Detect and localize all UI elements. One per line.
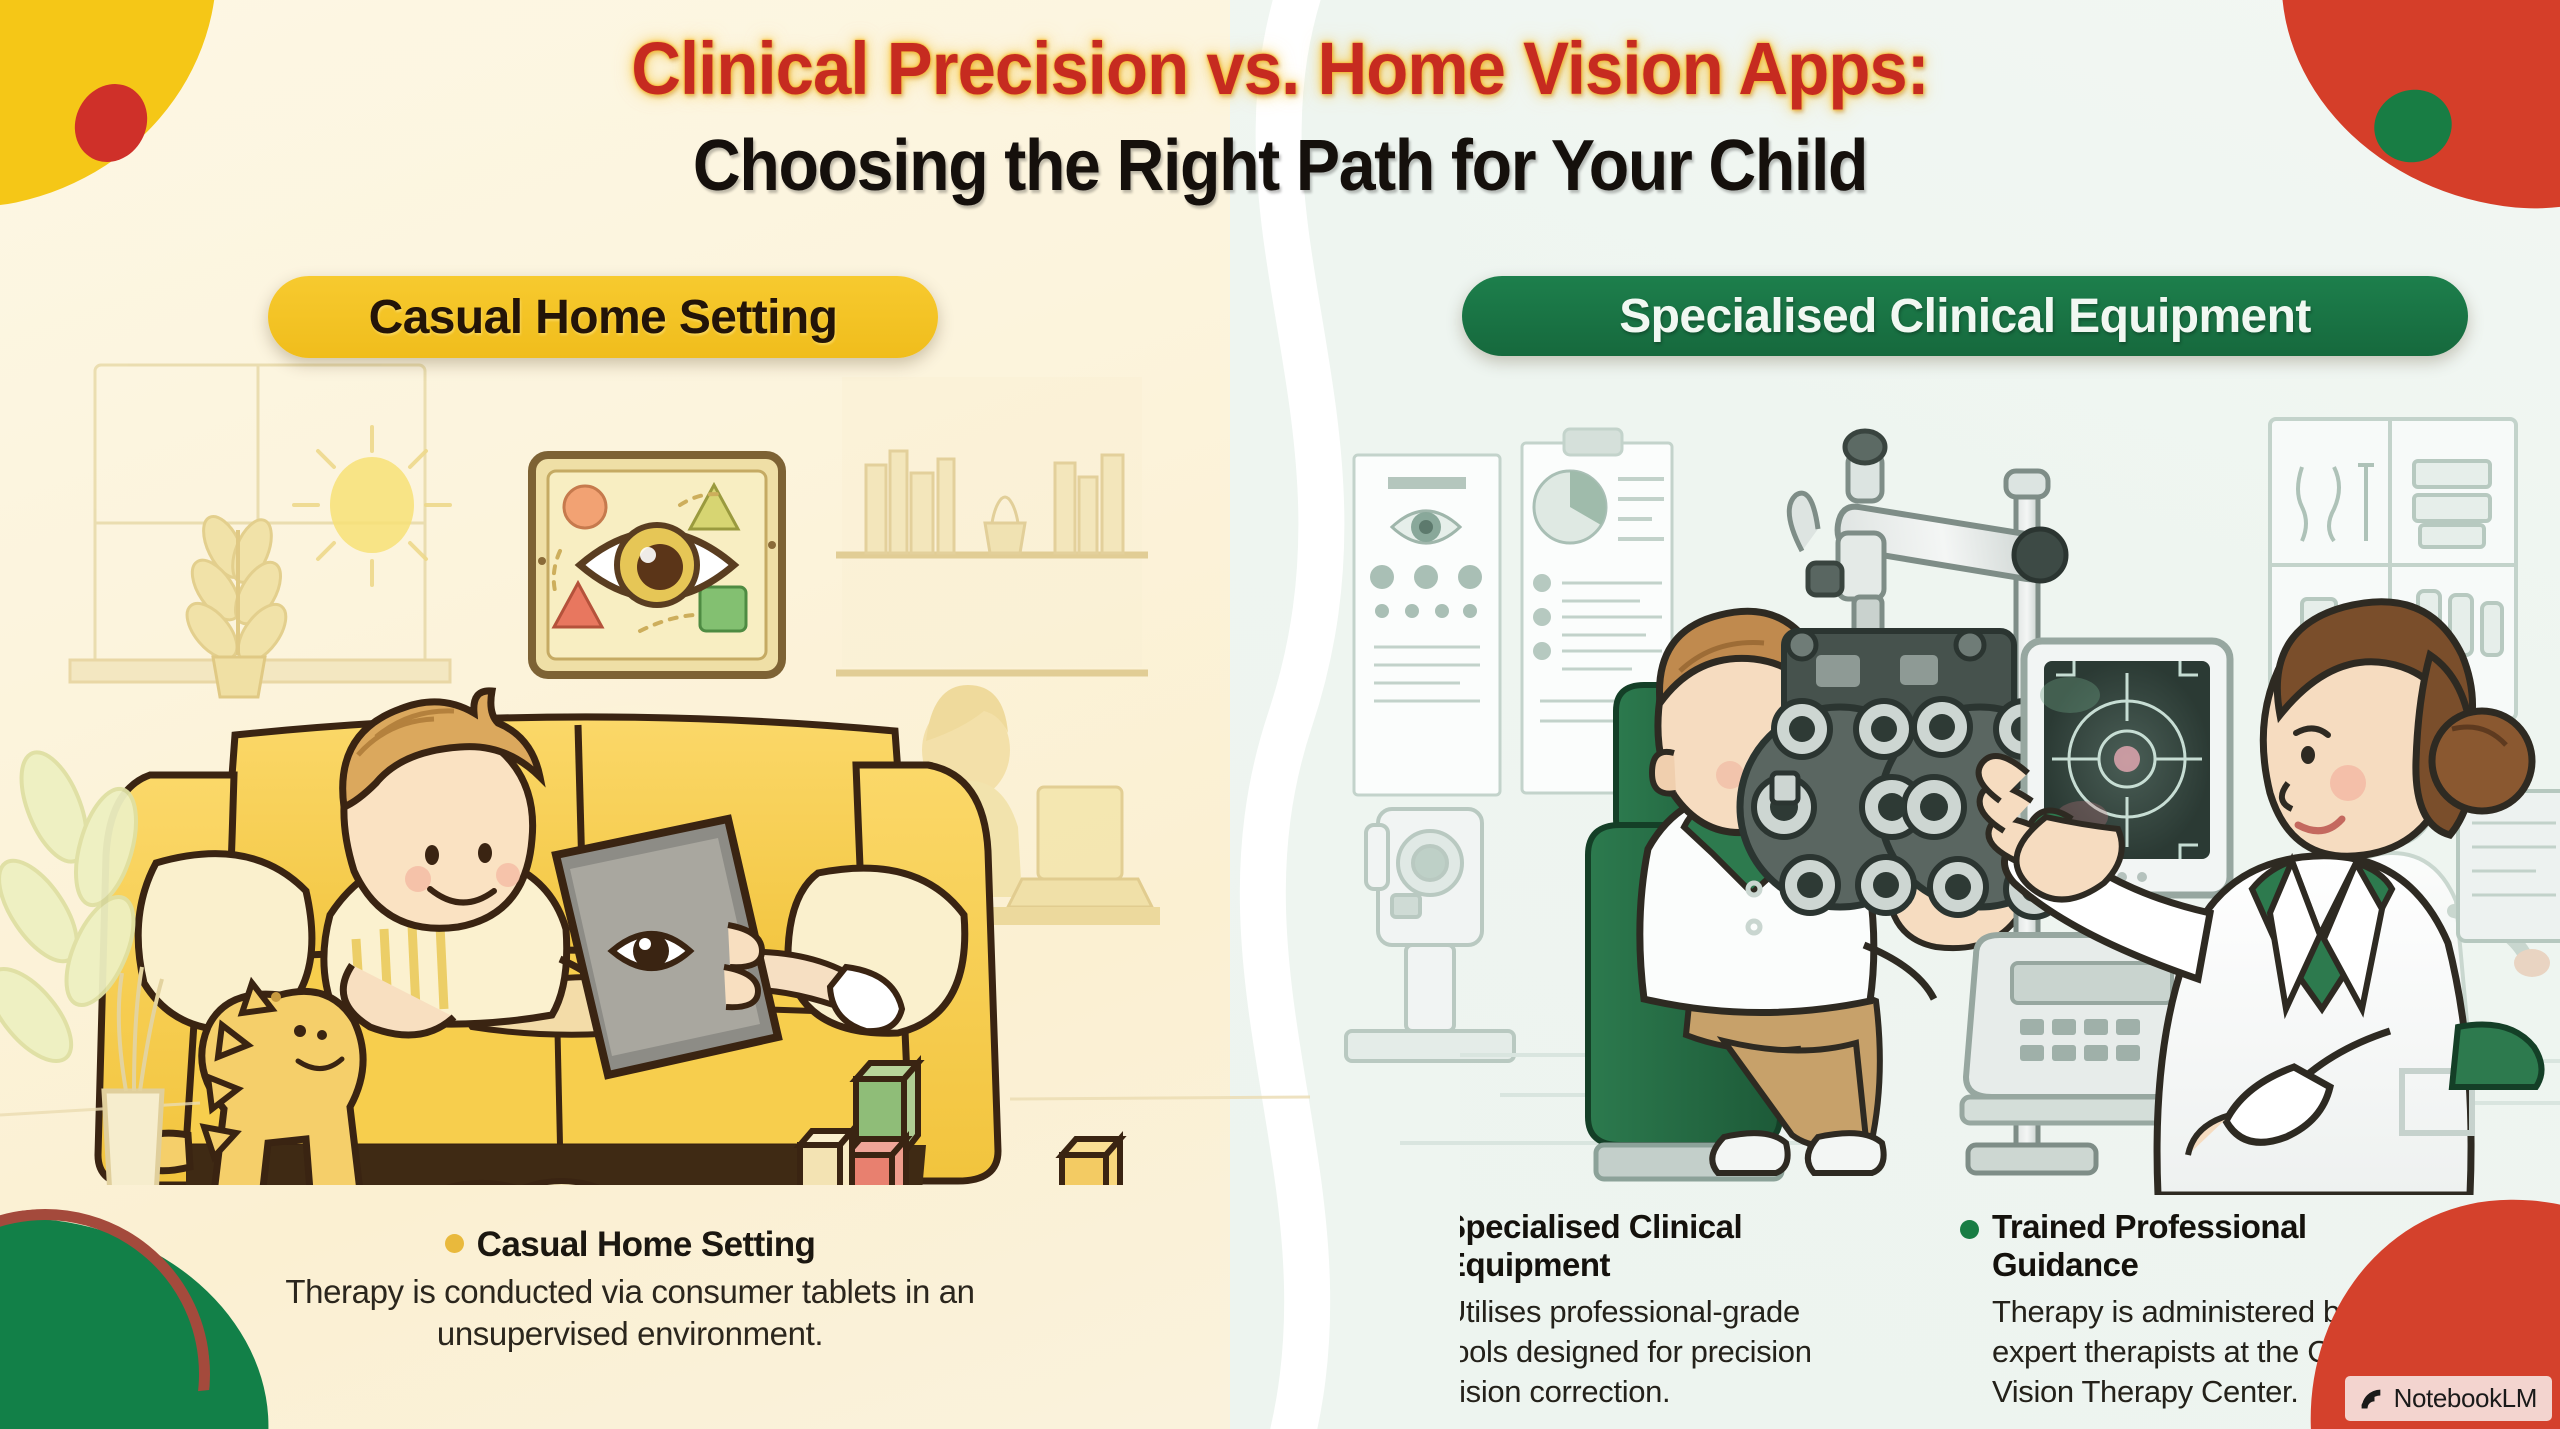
bullet-dot-icon: [445, 1234, 464, 1253]
caption-clinical-equipment-body: Utilises professional-grade tools design…: [1444, 1292, 1864, 1413]
notebooklm-spiral-icon: [2357, 1385, 2385, 1413]
eye-icon: [478, 843, 492, 863]
caption-professional-guidance-heading: Trained Professional Guidance: [1992, 1208, 2412, 1285]
hair-bun: [2432, 711, 2532, 811]
caption-home-heading: Casual Home Setting: [477, 1225, 816, 1264]
section-badge-home-label: Casual Home Setting: [369, 290, 838, 345]
notebooklm-watermark: NotebookLM: [2345, 1376, 2552, 1421]
sneaker-right: [1808, 1133, 1884, 1173]
infographic-poster: Clinical Precision vs. Home Vision Apps:…: [0, 0, 2560, 1429]
eye-chart-wall-poster: [1354, 455, 1500, 795]
caption-clinical-equipment-heading-row: Specialised Clinical Equipment: [1412, 1208, 1864, 1285]
caption-clinical-equipment-heading: Specialised Clinical Equipment: [1444, 1208, 1864, 1285]
clinician-chair: [2452, 1025, 2542, 1088]
caption-home-body: Therapy is conducted via consumer tablet…: [200, 1271, 1060, 1355]
sun-icon: [294, 427, 450, 585]
square-shape: [700, 587, 746, 631]
section-badge-clinical-label: Specialised Clinical Equipment: [1619, 289, 2311, 344]
bullet-dot-icon: [1412, 1220, 1431, 1239]
bullet-dot-icon: [1960, 1220, 1979, 1239]
section-badge-home[interactable]: Casual Home Setting: [268, 276, 938, 358]
eye-icon: [425, 845, 439, 865]
bookshelf: [836, 377, 1148, 673]
caption-professional-guidance-heading-row: Trained Professional Guidance: [1960, 1208, 2412, 1285]
sneaker-left: [1712, 1133, 1787, 1173]
section-badge-clinical[interactable]: Specialised Clinical Equipment: [1462, 276, 2468, 356]
page-title: Clinical Precision vs. Home Vision Apps:: [90, 26, 2471, 111]
clinical-equipment-illustration: [1340, 355, 2560, 1195]
home-setting-illustration: [0, 355, 1310, 1185]
arm-pivot: [2014, 529, 2066, 581]
slit-lamp-device: [1346, 809, 1514, 1061]
caption-home: Casual Home Setting Therapy is conducted…: [200, 1225, 1060, 1355]
caption-home-heading-row: Casual Home Setting: [445, 1225, 816, 1265]
header: Clinical Precision vs. Home Vision Apps:…: [0, 0, 2560, 207]
eye-icon: [2301, 746, 2315, 764]
caption-clinical-equipment: Specialised Clinical Equipment Utilises …: [1412, 1208, 1864, 1412]
page-subtitle: Choosing the Right Path for Your Child: [102, 125, 2457, 207]
eye-icon: [294, 1025, 306, 1037]
notebooklm-watermark-label: NotebookLM: [2394, 1383, 2537, 1414]
eye-chart-poster: [532, 455, 782, 675]
circle-shape: [564, 486, 606, 528]
